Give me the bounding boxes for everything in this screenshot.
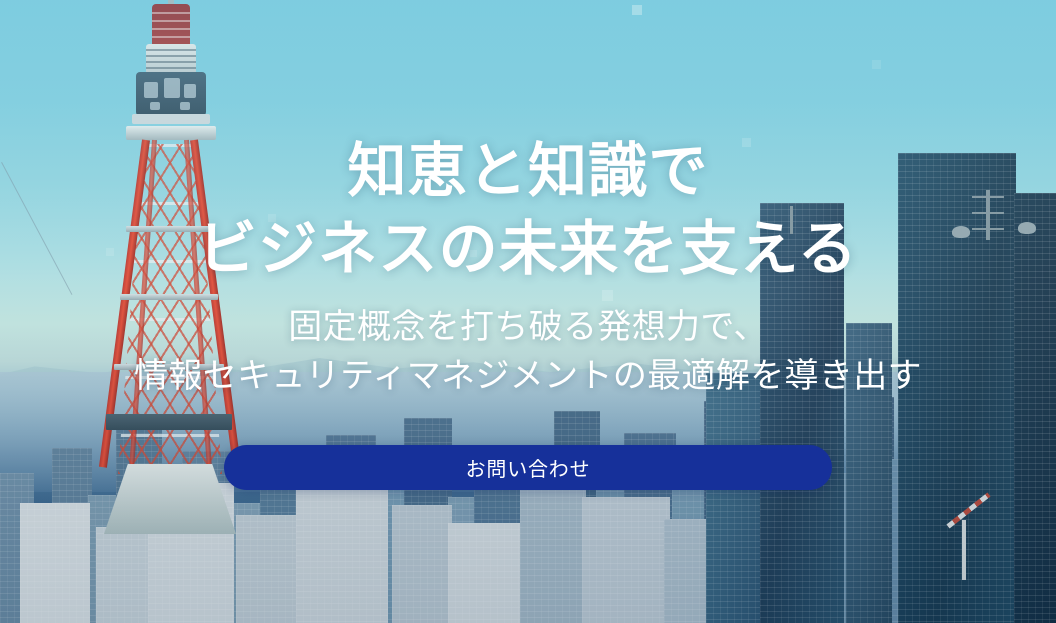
hero-headline-line-1: 知恵と知識で [198,132,858,210]
hero-content: 知恵と知識で ビジネスの未来を支える 固定概念を打ち破る発想力で、 情報セキュリ… [0,0,1056,623]
hero-subheadline-line-2: 情報セキュリティマネジメントの最適解を導き出す [134,352,922,401]
hero-subheadline-line-1: 固定概念を打ち破る発想力で、 [134,303,922,352]
hero-section: 知恵と知識で ビジネスの未来を支える 固定概念を打ち破る発想力で、 情報セキュリ… [0,0,1056,623]
contact-cta-button[interactable]: お問い合わせ [224,445,832,490]
hero-headline-line-2: ビジネスの未来を支える [198,210,858,288]
hero-headline: 知恵と知識で ビジネスの未来を支える [198,0,858,289]
hero-subheadline: 固定概念を打ち破る発想力で、 情報セキュリティマネジメントの最適解を導き出す [134,303,922,401]
